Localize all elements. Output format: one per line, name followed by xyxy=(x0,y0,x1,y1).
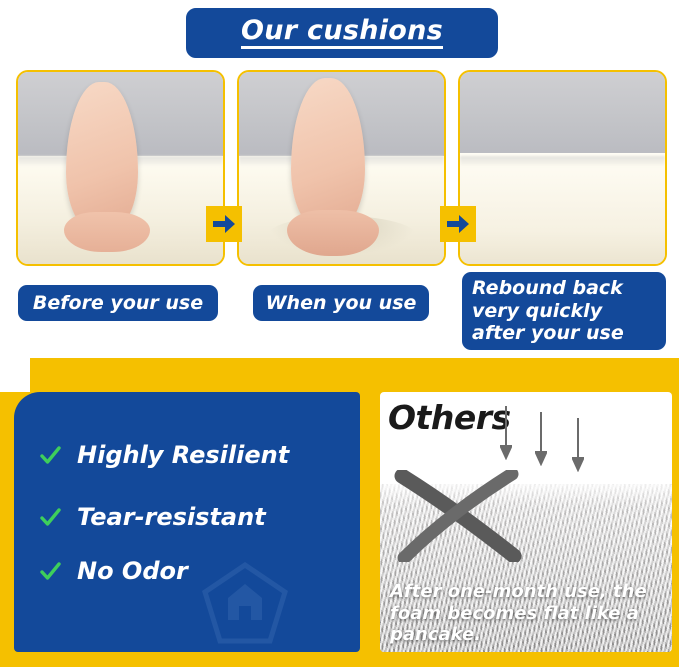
toes-image xyxy=(287,210,379,256)
page-title: Our cushions xyxy=(241,17,443,49)
others-caption: After one-month use, the foam becomes fl… xyxy=(390,581,666,646)
step-photo-1 xyxy=(16,70,225,266)
step-caption-1: Before your use xyxy=(18,285,218,321)
arrow-down-icon xyxy=(500,406,512,460)
step-caption-3-label: Rebound back very quickly after your use xyxy=(472,277,656,344)
others-panel: Others After one-month use, the foam bec… xyxy=(380,392,672,652)
feature-row-3: No Odor xyxy=(40,557,188,585)
x-cross-icon xyxy=(394,470,524,562)
step-caption-3: Rebound back very quickly after your use xyxy=(462,272,666,350)
step-caption-2-label: When you use xyxy=(266,292,417,314)
wall-background xyxy=(460,72,665,160)
feature-row-1: Highly Resilient xyxy=(40,441,289,469)
arrow-down-icon xyxy=(572,418,584,472)
photo-row xyxy=(0,70,679,262)
feature-label-1: Highly Resilient xyxy=(77,441,289,469)
feature-label-2: Tear-resistant xyxy=(77,503,266,531)
step-caption-1-label: Before your use xyxy=(33,292,203,314)
check-icon xyxy=(40,445,61,466)
toes-image xyxy=(64,212,150,252)
arrow-right-icon xyxy=(206,206,242,242)
step-photo-3 xyxy=(458,70,667,266)
arrow-right-icon xyxy=(440,206,476,242)
corner-wedge xyxy=(0,358,30,392)
feature-label-3: No Odor xyxy=(77,557,188,585)
foot-image xyxy=(66,82,138,232)
feature-row-2: Tear-resistant xyxy=(40,503,266,531)
arrow-down-icon xyxy=(535,412,547,466)
page-title-banner: Our cushions xyxy=(186,8,498,58)
foam-block-rebounded xyxy=(460,153,665,264)
step-caption-2: When you use xyxy=(253,285,429,321)
house-badge-watermark-icon xyxy=(202,562,288,646)
step-photo-2 xyxy=(237,70,446,266)
check-icon xyxy=(40,561,61,582)
others-title: Others xyxy=(388,398,511,437)
check-icon xyxy=(40,507,61,528)
foam-edge xyxy=(460,156,665,166)
